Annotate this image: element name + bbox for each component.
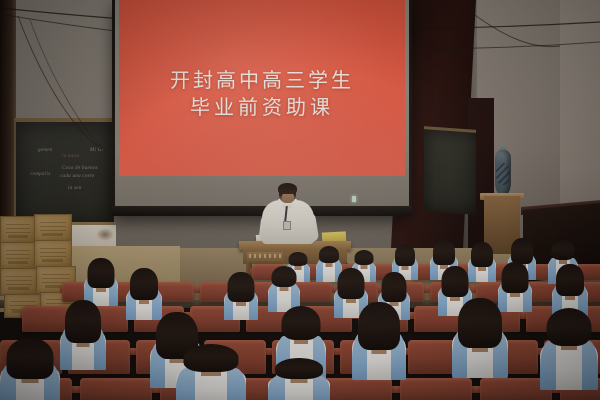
- student-hair: [395, 244, 415, 266]
- student: [60, 300, 106, 370]
- presenter-hair: [278, 183, 297, 194]
- uniform-shoulder-left: [268, 376, 285, 400]
- student: [0, 338, 60, 400]
- slide-title-line2: 毕业前资助课: [170, 94, 354, 121]
- cardboard-box: [0, 268, 38, 296]
- student-hair: [184, 344, 239, 372]
- student-hair: [355, 250, 374, 265]
- uniform-shoulder-right: [370, 263, 376, 282]
- student-hair: [502, 262, 529, 293]
- uniform-shoulder-left: [540, 341, 556, 390]
- student-hair: [88, 258, 115, 288]
- chalk-note: cada una corre: [60, 174, 95, 179]
- student-hair: [7, 338, 54, 379]
- chalk-note: Cosa de buenos: [62, 166, 98, 171]
- student-hair: [282, 306, 321, 340]
- student-hair: [547, 308, 592, 346]
- cardboard-box: [34, 214, 72, 242]
- student: [452, 298, 508, 378]
- student-hair: [358, 302, 400, 350]
- seat-back: [400, 378, 472, 400]
- whiteboard-smudge: [96, 228, 114, 241]
- student-hair: [338, 268, 365, 299]
- student-hair: [458, 298, 502, 348]
- student: [352, 302, 406, 380]
- auditorium-photo: gemen la mesa Mi Gr Cosa de buenos cada …: [0, 0, 600, 400]
- uniform-shoulder-right: [304, 264, 310, 282]
- student-hair: [442, 266, 469, 297]
- cardboard-box: [0, 242, 36, 270]
- student: [468, 242, 496, 282]
- student-hair: [275, 358, 323, 379]
- chalk-note: compalis: [30, 172, 50, 177]
- student-hair: [433, 240, 455, 265]
- student: [176, 344, 246, 400]
- slide-title-line1: 开封高中高三学生: [170, 67, 354, 94]
- student: [540, 308, 598, 390]
- uniform-shoulder-left: [316, 260, 323, 282]
- vase-pattern: [496, 163, 510, 185]
- student-hair: [228, 272, 255, 302]
- student-hair: [130, 268, 158, 300]
- mouse-cursor-icon: [352, 196, 356, 202]
- student-hair: [556, 264, 584, 296]
- student: [268, 358, 330, 400]
- student-hair: [289, 252, 308, 266]
- slide-title: 开封高中高三学生 毕业前资助课: [170, 67, 354, 121]
- uniform-shoulder-left: [176, 368, 195, 400]
- presenter-name-badge: [283, 221, 291, 230]
- presentation-slide: 开封高中高三学生 毕业前资助课: [119, 0, 405, 176]
- student-hair: [65, 300, 101, 343]
- cardboard-box: [0, 216, 36, 244]
- student-hair: [552, 240, 575, 260]
- student-hair: [511, 238, 533, 264]
- student-hair: [272, 266, 297, 287]
- student: [84, 258, 118, 306]
- table-name-plaque: [247, 252, 283, 261]
- student-hair: [471, 242, 493, 267]
- chalk-note: la sen: [68, 186, 82, 191]
- student-hair: [382, 272, 407, 302]
- cardboard-box: [34, 240, 72, 268]
- seat-back: [320, 378, 392, 400]
- seat-back: [80, 378, 152, 400]
- student: [224, 272, 258, 320]
- student-hair: [319, 246, 339, 263]
